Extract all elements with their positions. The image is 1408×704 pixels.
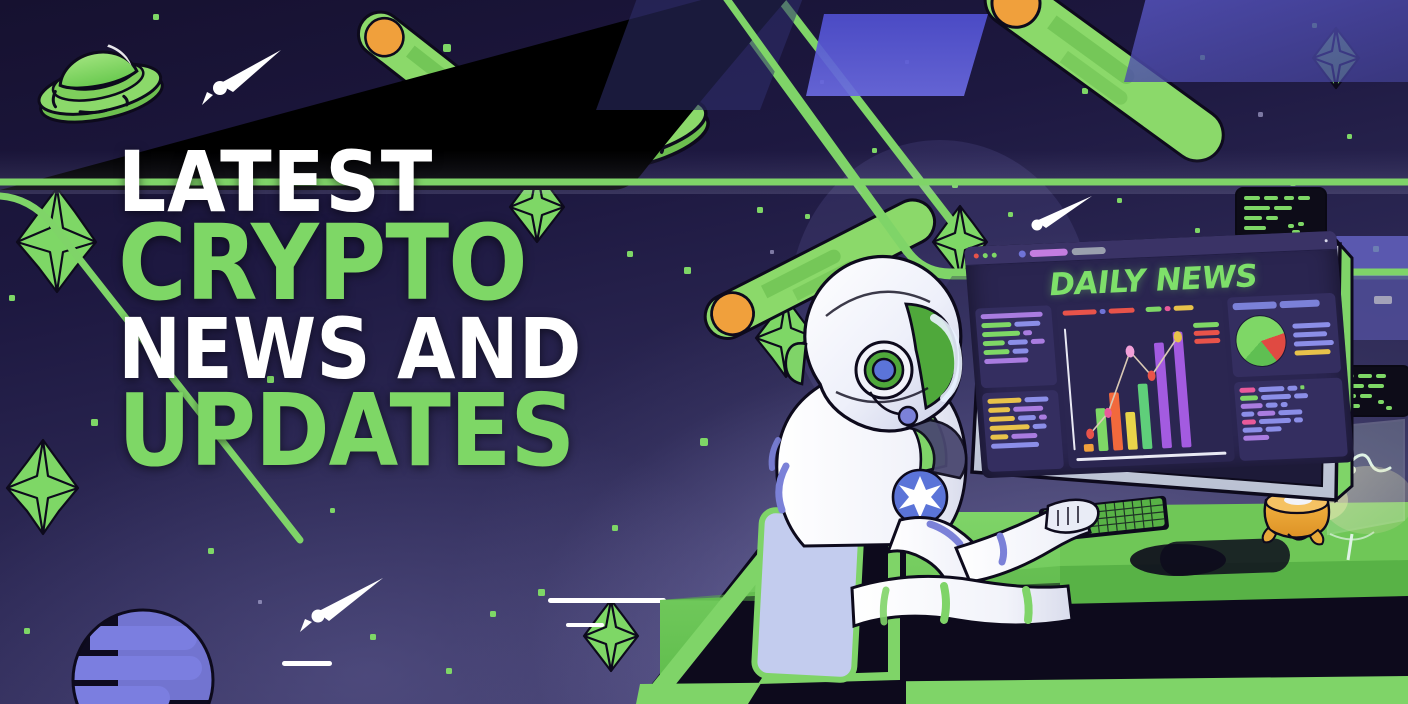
monitor-screen[interactable]: DAILY NEWS	[964, 231, 1355, 478]
legend-bar	[1292, 322, 1330, 329]
panel-article-list-top[interactable]	[975, 305, 1057, 388]
page-title: LATEST CRYPTO NEWS AND UPDATES	[118, 143, 581, 477]
window-dot-min[interactable]	[983, 252, 988, 257]
astronaut-badge	[893, 470, 947, 524]
window-dot-max[interactable]	[992, 252, 997, 257]
sparkle-star-icon	[7, 440, 78, 534]
line-markers	[1078, 331, 1190, 439]
chart-plot-area	[1072, 321, 1204, 452]
window-pane	[806, 14, 988, 96]
chart-tag-row	[1062, 304, 1216, 316]
panel-pie-summary[interactable]	[1227, 293, 1341, 377]
pie-chart	[1233, 314, 1288, 368]
ufo-left	[30, 35, 166, 131]
streak-line	[566, 623, 604, 627]
panel-feed-list[interactable]	[1234, 377, 1348, 461]
shooting-star-icon	[300, 578, 383, 632]
streak-line	[282, 661, 332, 666]
window-pane	[596, 0, 806, 110]
browser-tab[interactable]	[1029, 248, 1068, 257]
shooting-star-icon	[202, 50, 281, 105]
legend-bar	[1293, 331, 1327, 337]
streak-line	[548, 598, 666, 603]
headline-line-4: UPDATES	[118, 384, 581, 477]
legend-bar	[1294, 340, 1334, 347]
headline-line-2: CRYPTO	[118, 215, 581, 312]
panel-article-list-bottom[interactable]	[982, 389, 1064, 472]
chart-legend	[1193, 322, 1221, 344]
chart-x-axis	[1076, 452, 1226, 462]
chart-panel[interactable]	[1056, 298, 1235, 469]
poster-canvas: DAILY NEWS	[0, 0, 1408, 704]
window-dot-close[interactable]	[974, 253, 979, 258]
window-pane	[1124, 0, 1408, 82]
browser-tab[interactable]	[1018, 250, 1026, 257]
planet-striped	[58, 610, 222, 704]
address-bar[interactable]	[1071, 246, 1106, 254]
legend-bar	[1294, 349, 1330, 356]
browser-menu-dot[interactable]	[1325, 239, 1328, 242]
